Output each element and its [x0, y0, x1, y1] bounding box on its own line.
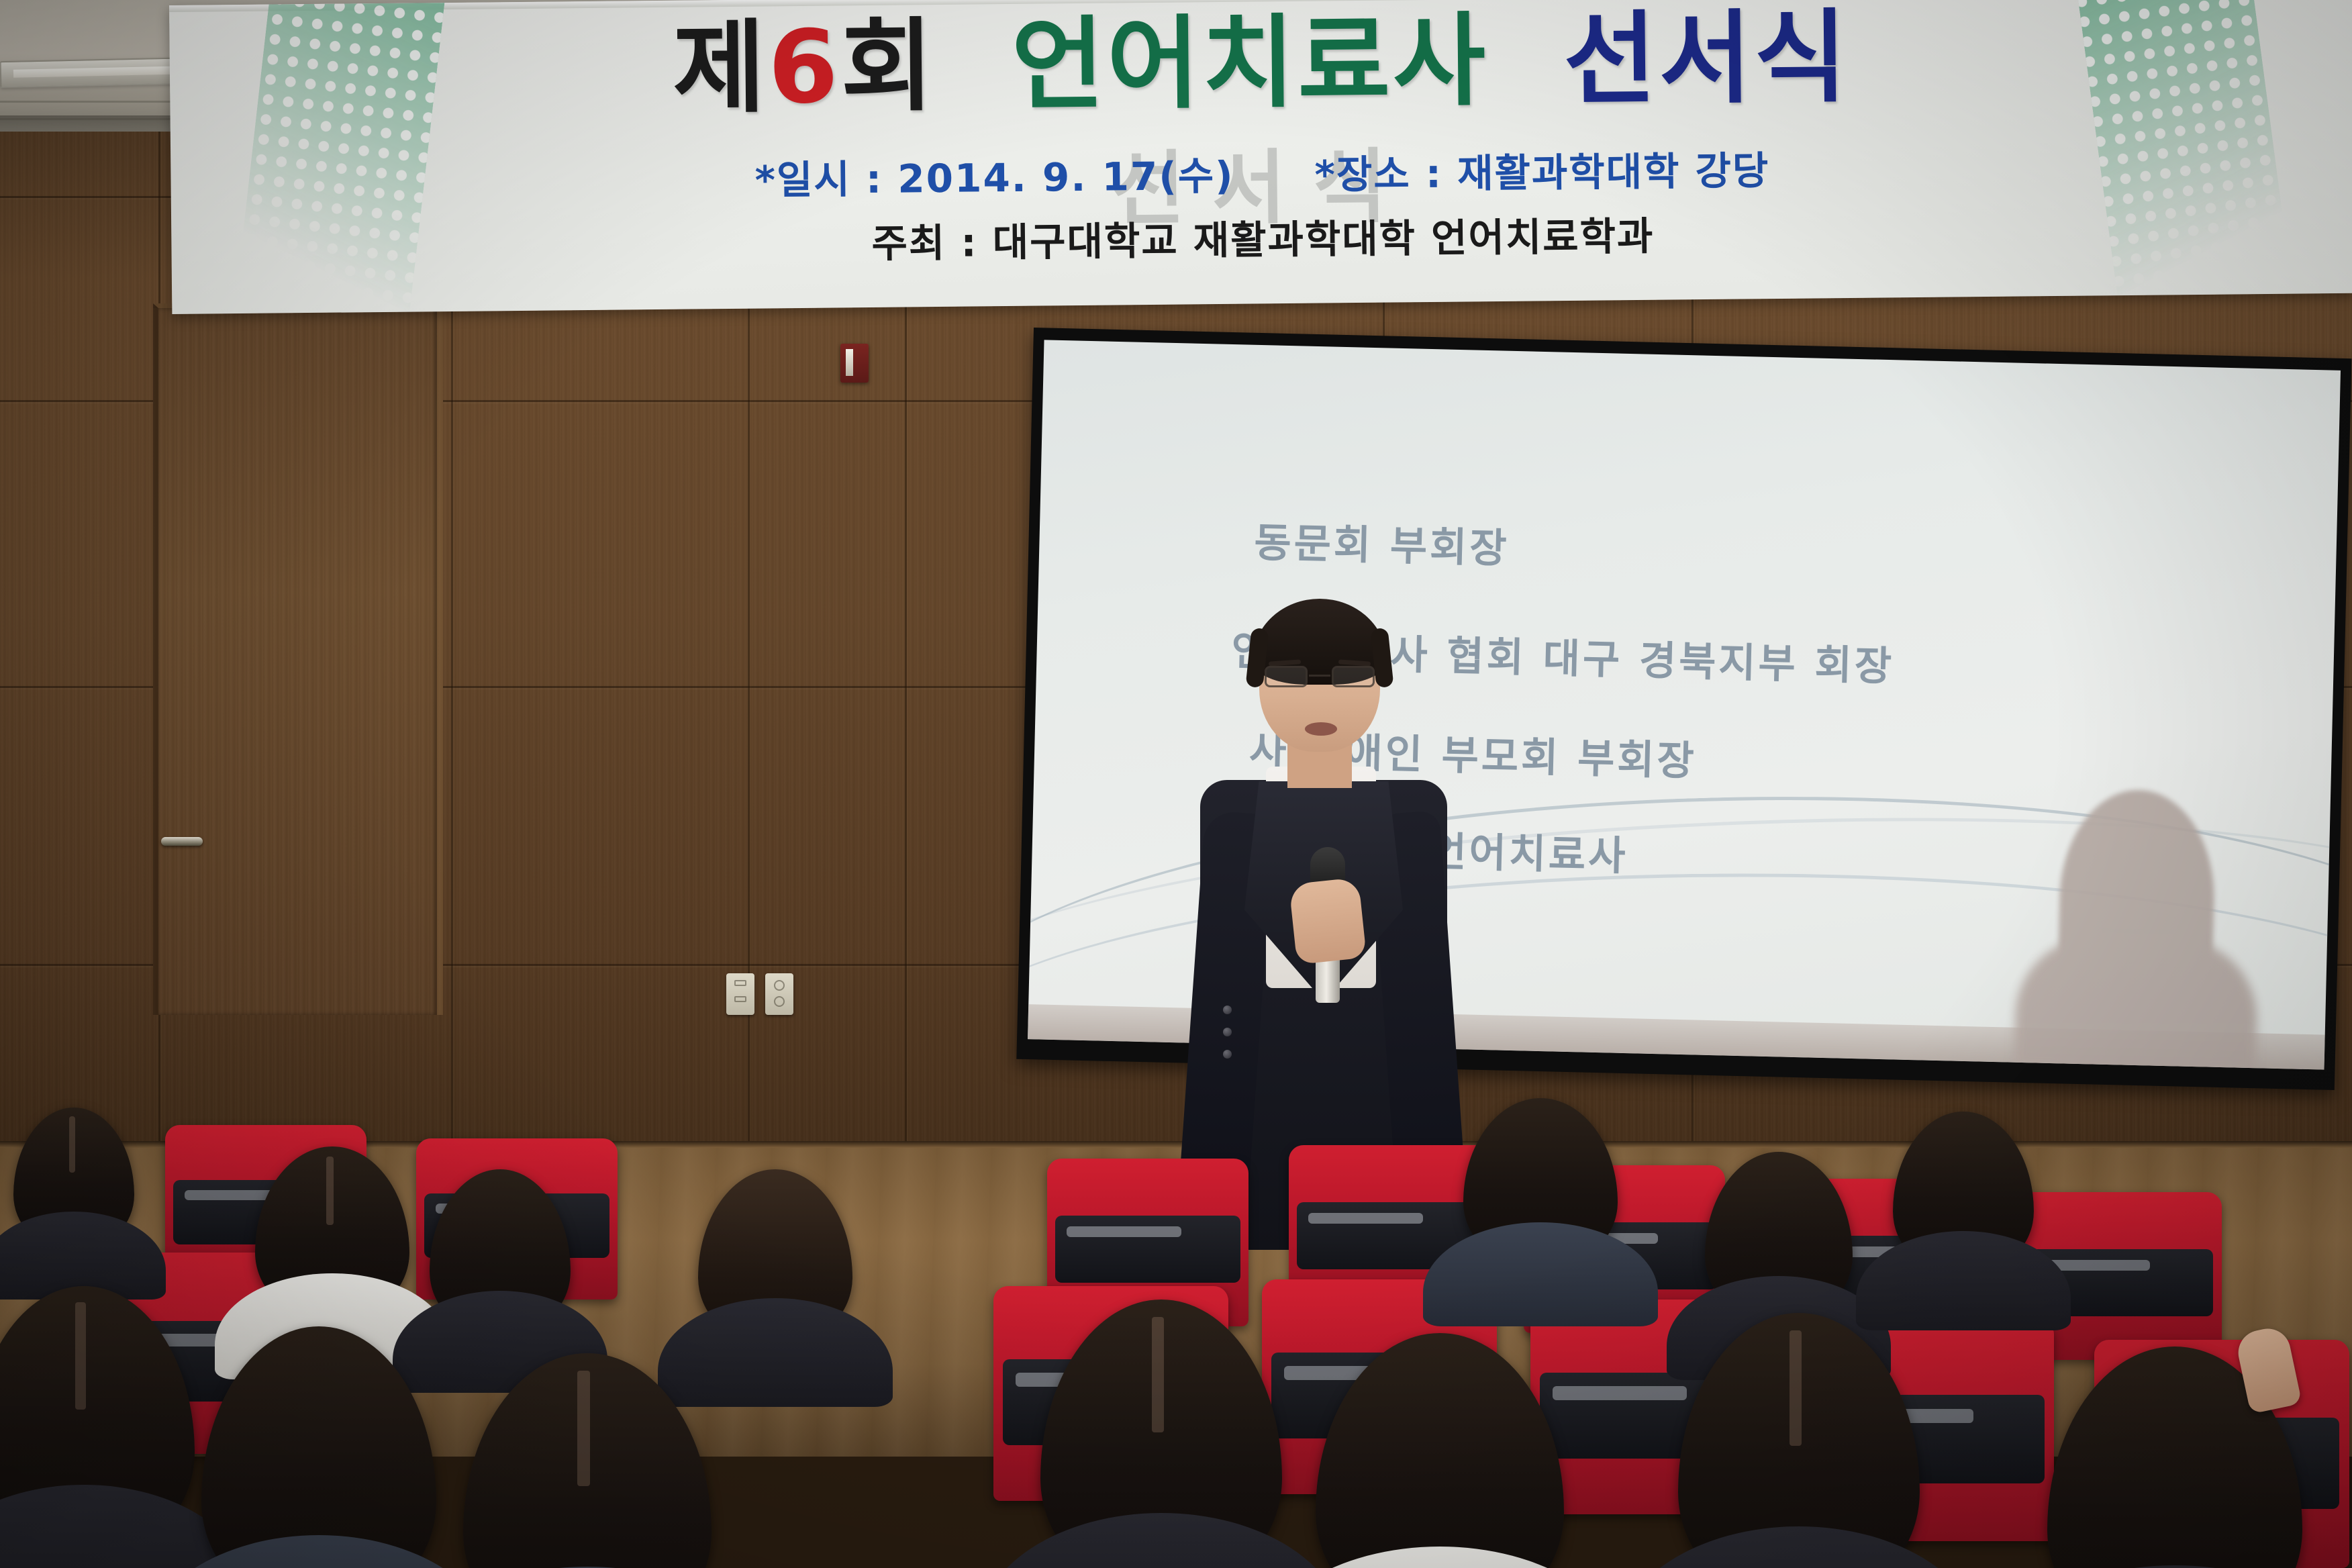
audience-area [0, 1085, 2352, 1568]
speaker-mouth [1305, 722, 1337, 736]
audience-member [13, 1108, 134, 1248]
speaker-jacket-buttons [1223, 1006, 1232, 1072]
audience-member [1463, 1098, 1618, 1266]
speaker-shadow [2055, 788, 2216, 1069]
wall-outlet[interactable] [765, 973, 793, 1015]
speaker-hand [1289, 877, 1367, 965]
banner-title: 제6회 언어치료사 선서식 [169, 1, 2352, 128]
banner-subtitle-row: *일시 : 2014. 9. 17(수)*장소 : 재활과학대학 강당 [170, 134, 2352, 211]
banner-place-label: *장소 : 재활과학대학 강당 [1314, 148, 1769, 198]
banner-date-label: *일시 : 2014. 9. 17(수) [754, 153, 1234, 203]
slide-line-1: 동문회 부회장 [1254, 510, 1510, 575]
banner-title-part-5: 선서식 [1563, 0, 1851, 119]
side-door[interactable] [153, 303, 443, 1015]
banner-title-part-4: 언어치료사 [1011, 3, 1489, 124]
banner-title-part-1: 제 [672, 9, 769, 127]
audience-member [1705, 1152, 1853, 1320]
glasses-icon [1265, 666, 1375, 689]
banner-title-part-2: 6 [767, 9, 841, 126]
photo-scene: 선서식 제6회 언어치료사 선서식 *일시 : 2014. 9. 17(수)*장… [0, 0, 2352, 1568]
banner-host-label: 주최 : 대구대학교 재활과학대학 언어치료학과 [171, 198, 2352, 275]
door-handle[interactable] [161, 837, 203, 846]
audience-member [1893, 1112, 2034, 1273]
audience-member [698, 1169, 852, 1344]
event-banner: 선서식 제6회 언어치료사 선서식 *일시 : 2014. 9. 17(수)*장… [169, 0, 2352, 314]
fire-alarm-icon [840, 344, 869, 383]
banner-title-part-3: 회 [840, 8, 937, 126]
wall-switch[interactable] [726, 973, 754, 1015]
